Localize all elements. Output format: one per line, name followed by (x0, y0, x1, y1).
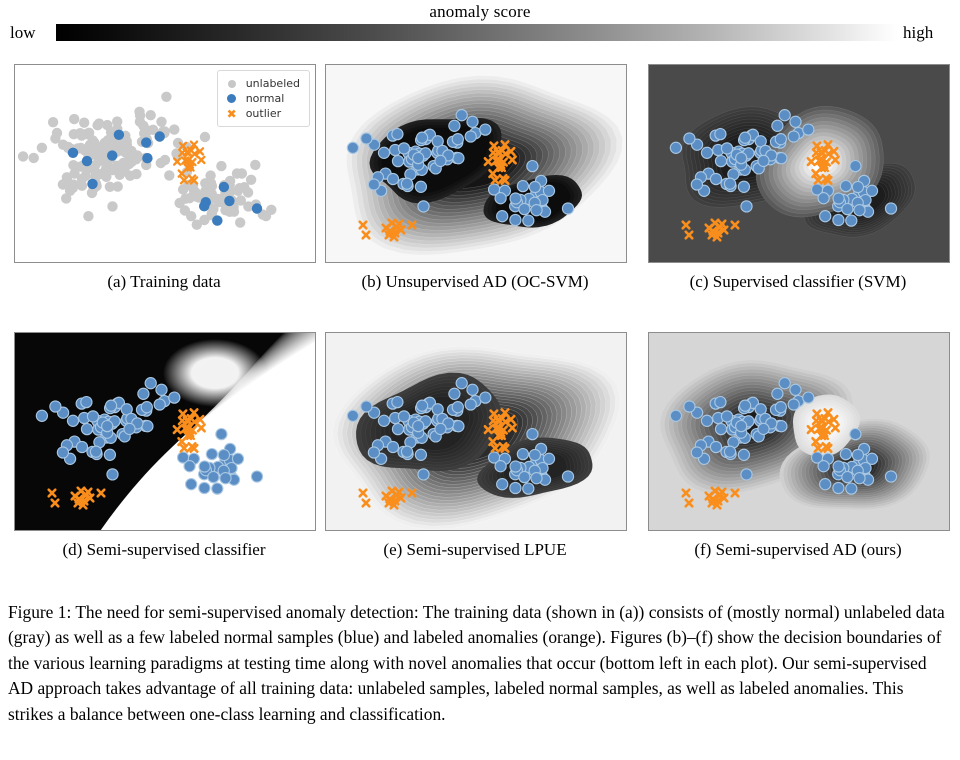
panel-f-plot (649, 333, 949, 530)
figure-root: anomaly score low high unlabeled normal (0, 0, 960, 760)
legend-item-unlabeled: unlabeled (225, 76, 300, 91)
panel-f-contours (649, 333, 949, 530)
colorbar: low high (0, 21, 960, 45)
panel-c-plot (649, 65, 949, 262)
panel-d-contours (15, 333, 315, 530)
panel-a-caption: (a) Training data (4, 272, 324, 292)
blue-dot-icon (225, 94, 239, 103)
legend-label-outlier: outlier (246, 106, 281, 121)
panel-c-supervised-classifier (648, 64, 950, 263)
figure-caption: Figure 1: The need for semi-supervised a… (8, 600, 952, 727)
colorbar-title: anomaly score (0, 2, 960, 22)
legend: unlabeled normal ✖ outlier (217, 70, 310, 127)
panel-a-training-data: unlabeled normal ✖ outlier (14, 64, 316, 263)
panel-e-caption: (e) Semi-supervised LPUE (315, 540, 635, 560)
panel-e-plot (326, 333, 626, 530)
colorbar-low-label: low (10, 23, 36, 43)
panel-c-caption: (c) Supervised classifier (SVM) (638, 272, 958, 292)
legend-item-normal: normal (225, 91, 300, 106)
legend-label-unlabeled: unlabeled (246, 76, 300, 91)
gray-dot-icon (225, 80, 239, 88)
panel-d-caption: (d) Semi-supervised classifier (4, 540, 324, 560)
figure-caption-label: Figure 1: (8, 602, 71, 622)
legend-label-normal: normal (246, 91, 285, 106)
panel-b-unsupervised-ad (325, 64, 627, 263)
panel-d-plot (15, 333, 315, 530)
colorbar-gradient (56, 24, 898, 41)
panel-c-contours (649, 65, 949, 262)
panel-f-caption: (f) Semi-supervised AD (ours) (638, 540, 958, 560)
figure-caption-text: The need for semi-supervised anomaly det… (8, 602, 945, 724)
panel-b-caption: (b) Unsupervised AD (OC-SVM) (315, 272, 635, 292)
colorbar-high-label: high (903, 23, 933, 43)
panel-d-semi-supervised-classifier (14, 332, 316, 531)
orange-x-icon: ✖ (225, 108, 239, 120)
panel-b-plot (326, 65, 626, 262)
panel-e-contours (326, 333, 626, 530)
panel-b-contours (326, 65, 626, 262)
panel-e-semi-supervised-lpue (325, 332, 627, 531)
legend-item-outlier: ✖ outlier (225, 106, 300, 121)
panel-f-semi-supervised-ad (648, 332, 950, 531)
